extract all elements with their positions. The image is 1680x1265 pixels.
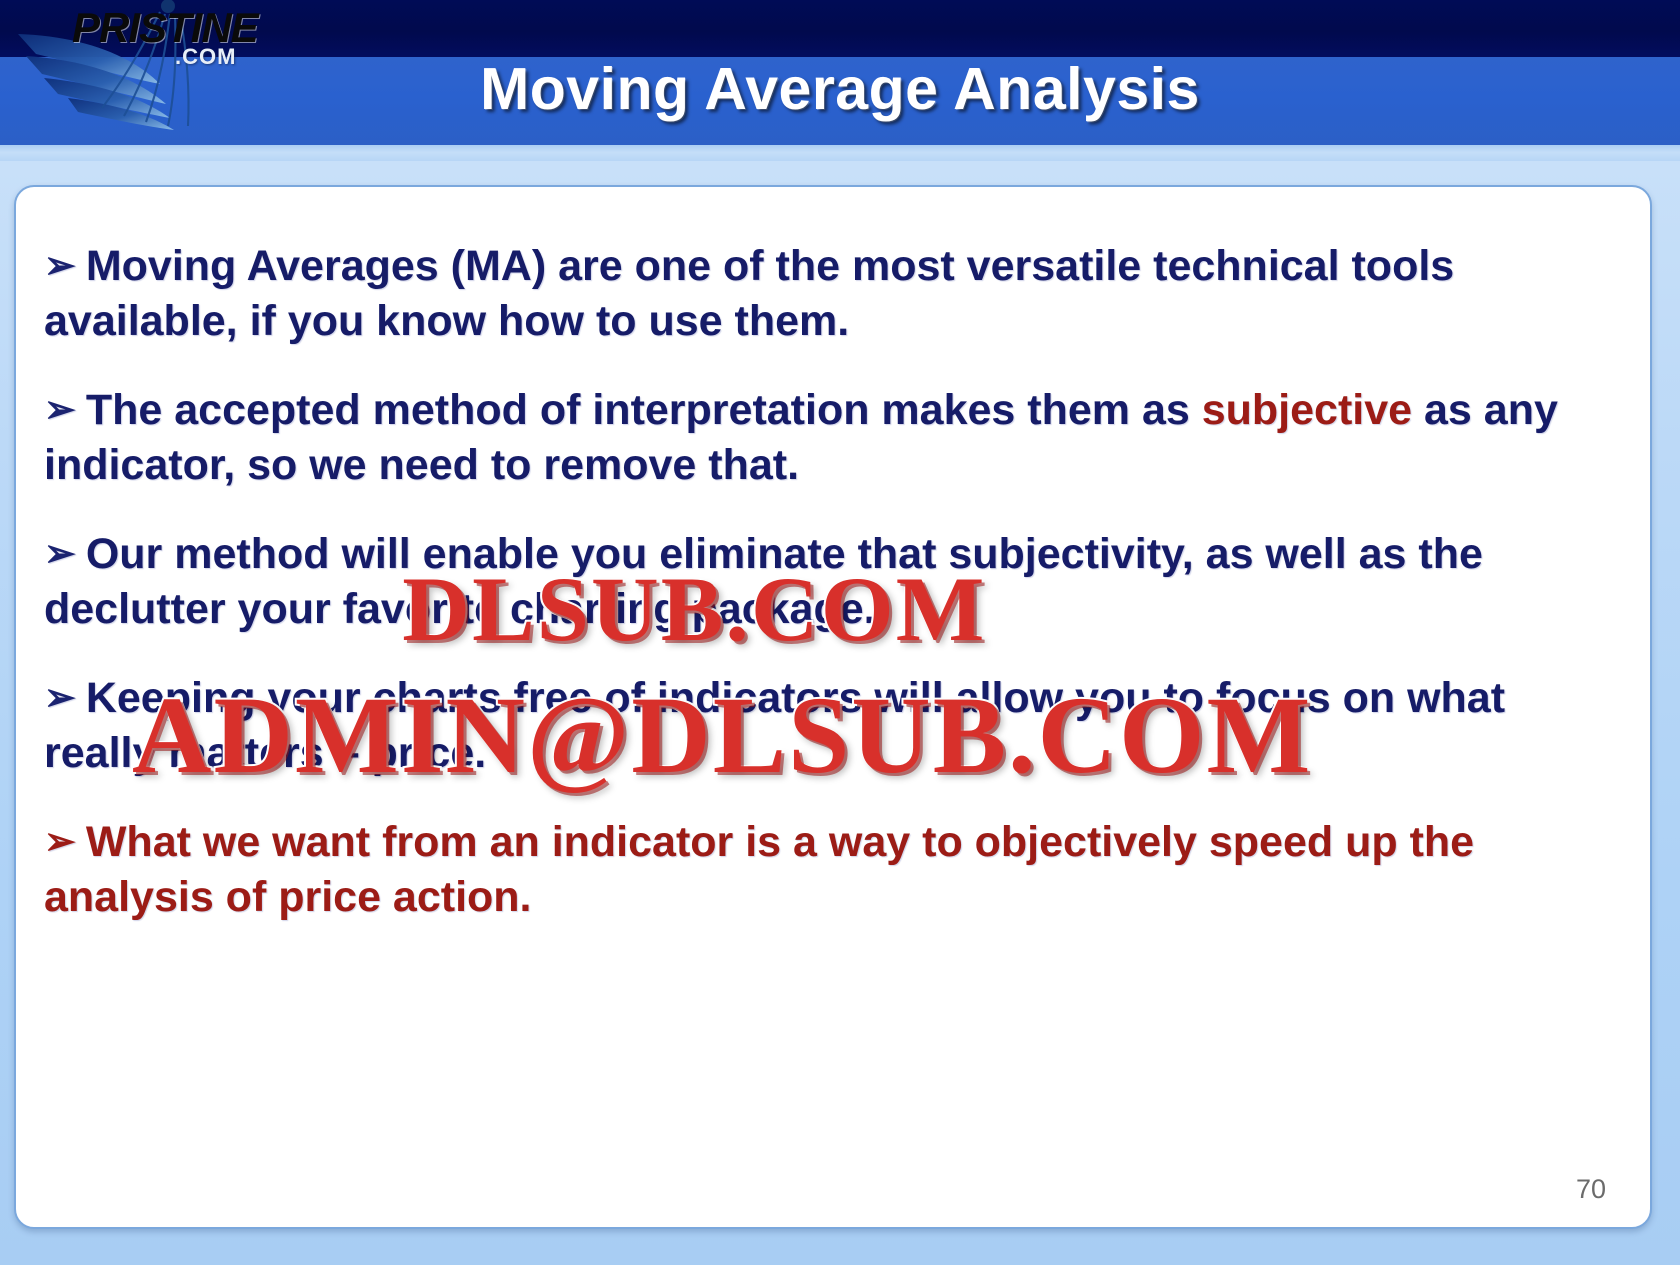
arrow-bullet-icon: ➢ [44,530,76,579]
top-navy-strip [0,0,1680,57]
page-number: 70 [1576,1174,1606,1205]
arrow-bullet-icon: ➢ [44,386,76,435]
page-title: Moving Average Analysis [0,55,1680,123]
bullet-text: Moving Averages (MA) are one of the most… [44,242,1454,345]
list-item: ➢What we want from an indicator is a way… [44,815,1624,925]
arrow-bullet-icon: ➢ [44,242,76,291]
list-item: ➢The accepted method of interpretation m… [44,383,1624,493]
list-item: ➢Moving Averages (MA) are one of the mos… [44,239,1624,349]
watermark-email: ADMIN@DLSUB.COM [132,672,1312,799]
banner-underglow [0,145,1680,161]
arrow-bullet-icon: ➢ [44,818,76,867]
bullet-text: What we want from an indicator is a way … [44,818,1474,921]
slide-canvas: Moving Average Analysis [0,0,1680,1265]
watermark-site: DLSUB.COM [402,556,986,662]
bullet-text: The accepted method of interpretation ma… [86,386,1202,434]
arrow-bullet-icon: ➢ [44,674,76,723]
bullet-highlight-subjective: subjective [1202,386,1412,434]
